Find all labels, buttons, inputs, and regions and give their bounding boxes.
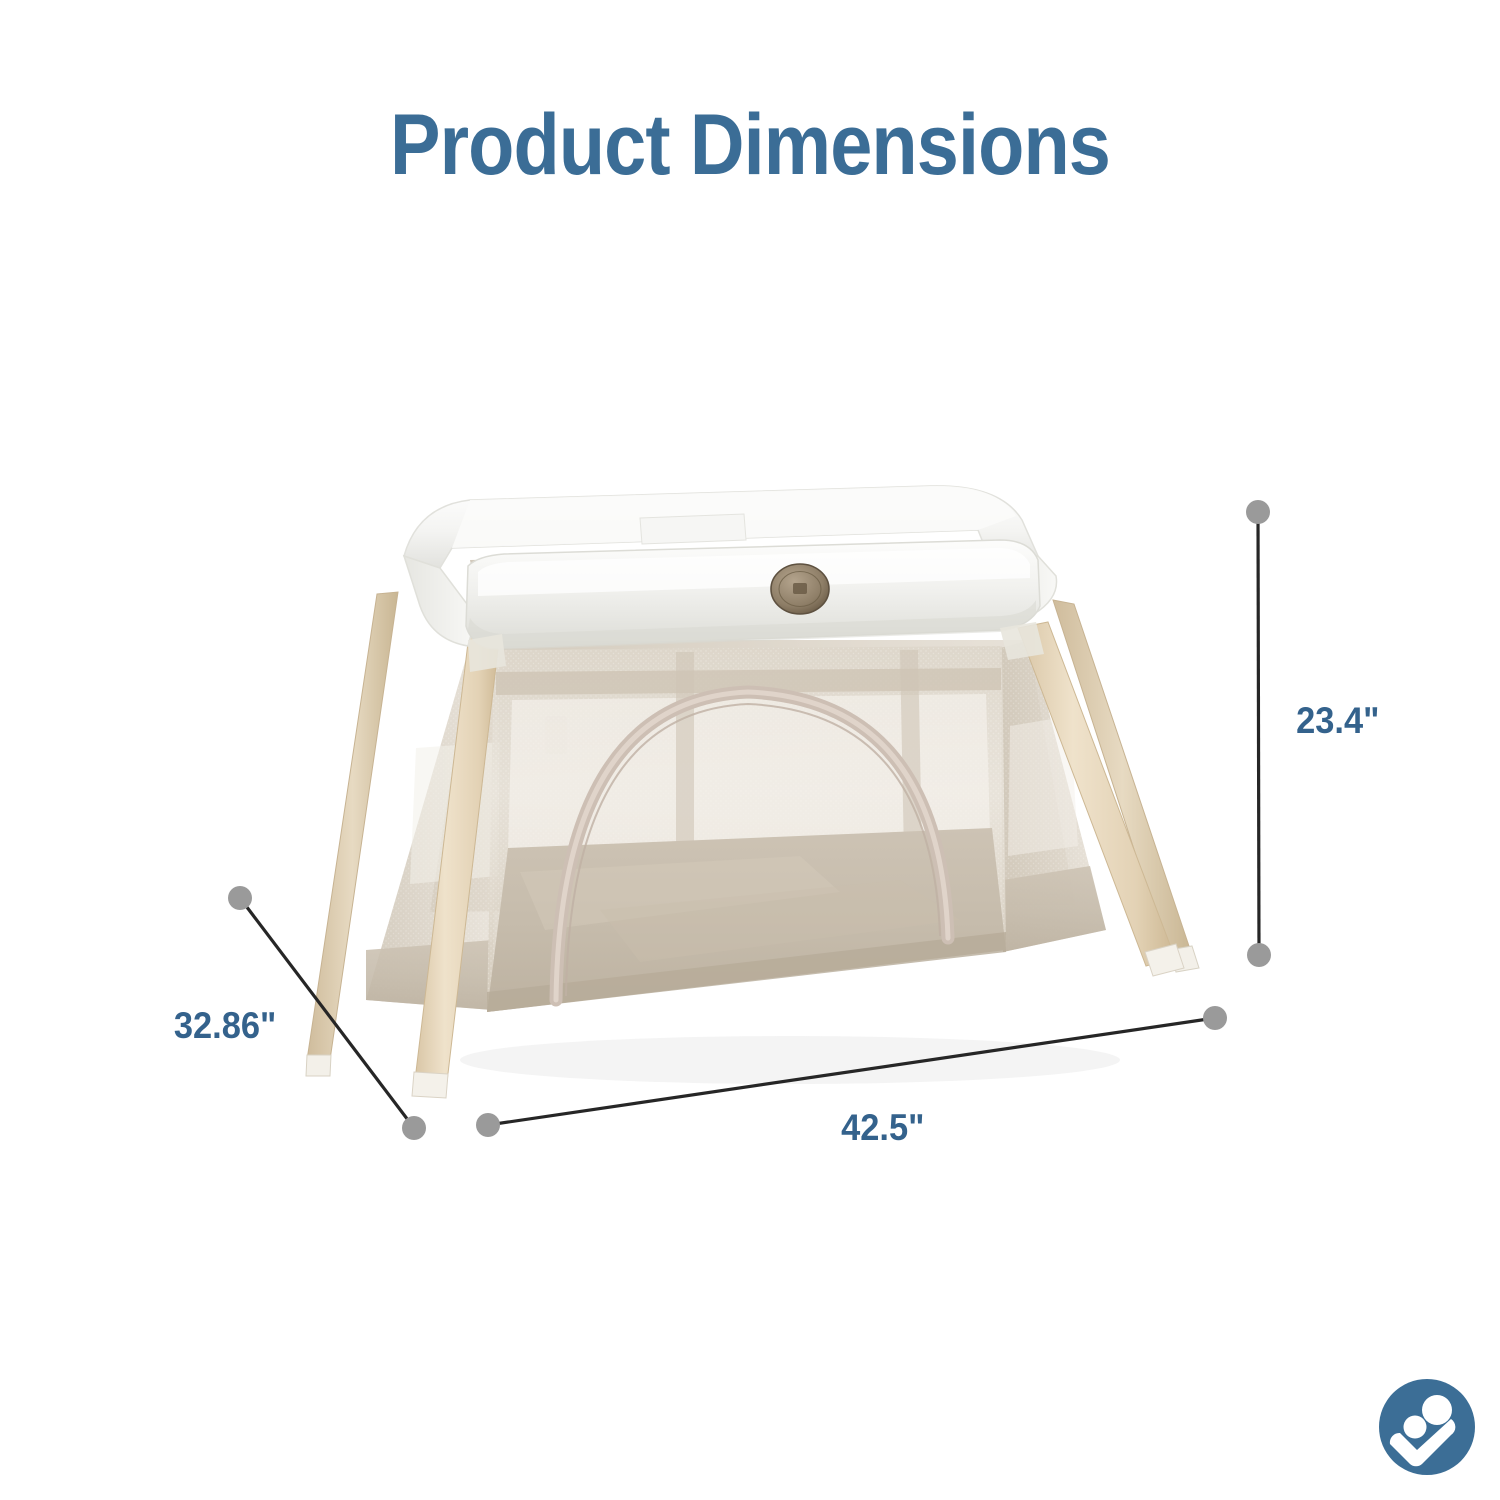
product-dimensions-infographic: Product Dimensions <box>0 0 1500 1500</box>
parent-and-child-logo <box>1377 1377 1477 1477</box>
crib-top-rail-left <box>404 556 476 646</box>
logo-circle-background <box>1379 1379 1475 1475</box>
leg-sleeve-right <box>1000 622 1044 660</box>
product-logo-badge <box>771 564 829 614</box>
crib-leg-back-left <box>306 592 398 1076</box>
dimension-label-width: 42.5" <box>841 1107 924 1149</box>
dimension-label-depth: 32.86" <box>174 1005 276 1047</box>
rail-center-tab <box>640 514 746 544</box>
dimension-label-height: 23.4" <box>1296 700 1379 742</box>
crib-top-rail-front <box>466 540 1040 650</box>
floor-shadow <box>460 1036 1120 1084</box>
product-illustration <box>0 0 1500 1500</box>
leg-sleeve-left <box>468 634 506 672</box>
crib-front-panel <box>487 646 1006 1012</box>
